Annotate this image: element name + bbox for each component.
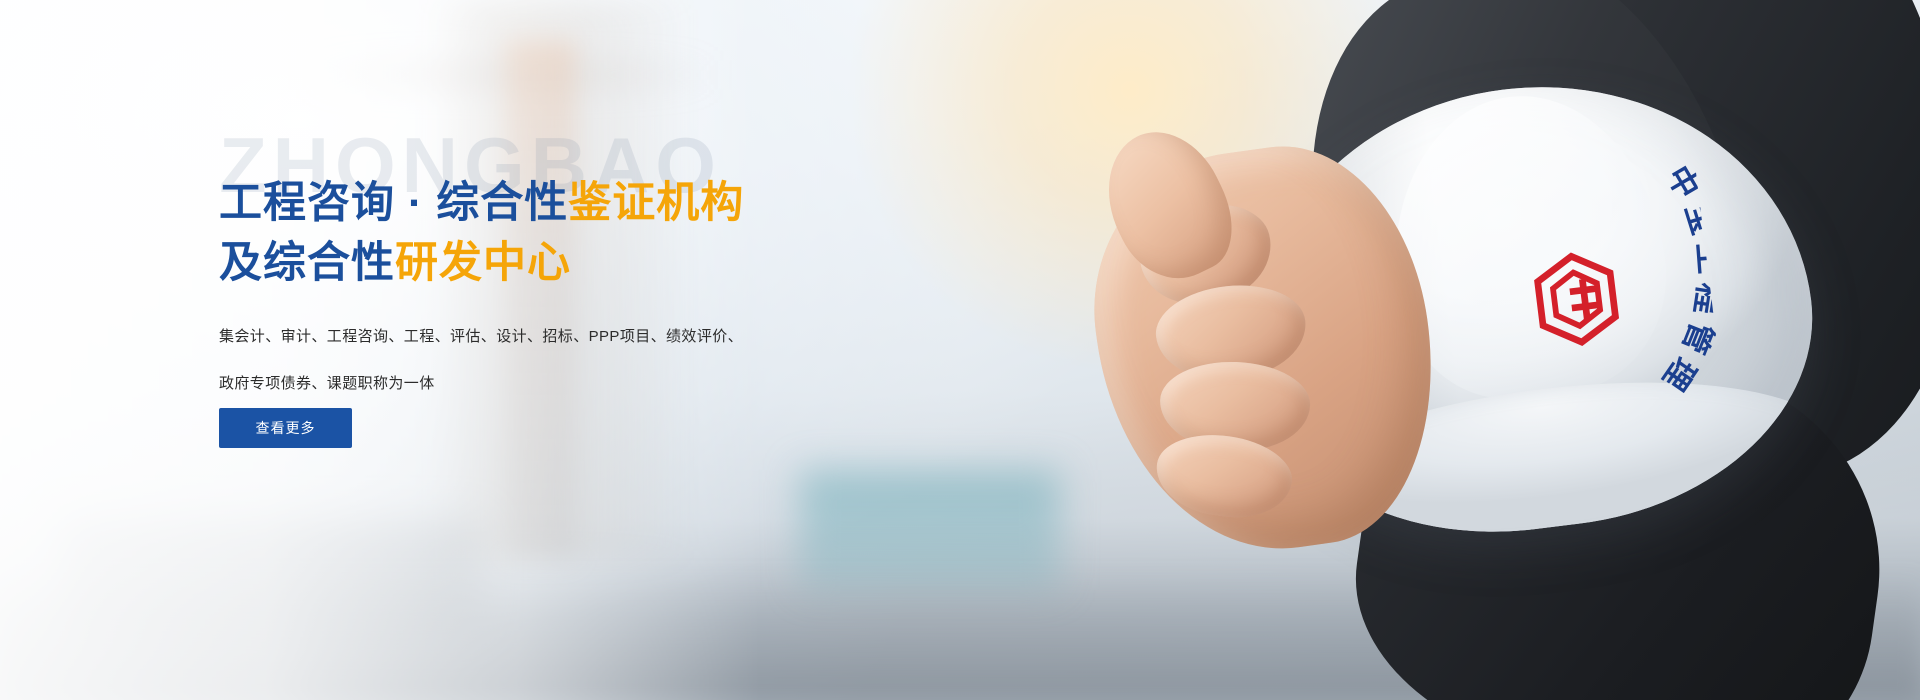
view-more-button[interactable]: 查看更多 bbox=[219, 408, 352, 448]
headline-segment-blue-1: 工程咨询 bbox=[219, 179, 395, 227]
person-holding-helmet: 中宝工程管理 bbox=[820, 0, 1920, 700]
hero-banner: 中宝工程管理 ZHONGBAO 工程咨询 · 综合性鉴证机构 bbox=[0, 0, 1920, 700]
description-line-2: 政府专项债券、课题职称为一体 bbox=[219, 360, 819, 407]
hero-content: ZHONGBAO 工程咨询 · 综合性鉴证机构 及综合性研发中心 集会计、审计、… bbox=[219, 0, 919, 700]
description-line-1: 集会计、审计、工程咨询、工程、评估、设计、招标、PPP项目、绩效评价、 bbox=[219, 313, 819, 360]
helmet-logo-hexagon-mark bbox=[1523, 246, 1630, 353]
hero-headline-line-2: 及综合性研发中心 bbox=[219, 233, 744, 293]
headline-segment-blue-2: 综合性 bbox=[436, 179, 568, 227]
headline-segment-blue-3: 及综合性 bbox=[219, 239, 395, 287]
headline-separator-dot: · bbox=[395, 179, 436, 227]
hero-headline-line-1: 工程咨询 · 综合性鉴证机构 bbox=[219, 173, 744, 233]
hero-headline: 工程咨询 · 综合性鉴证机构 及综合性研发中心 bbox=[219, 173, 744, 293]
helmet-logo: 中宝工程管理 bbox=[1412, 124, 1728, 466]
headline-segment-orange-2: 研发中心 bbox=[395, 239, 571, 287]
headline-segment-orange-1: 鉴证机构 bbox=[568, 179, 744, 227]
hero-description: 集会计、审计、工程咨询、工程、评估、设计、招标、PPP项目、绩效评价、 政府专项… bbox=[219, 313, 819, 407]
